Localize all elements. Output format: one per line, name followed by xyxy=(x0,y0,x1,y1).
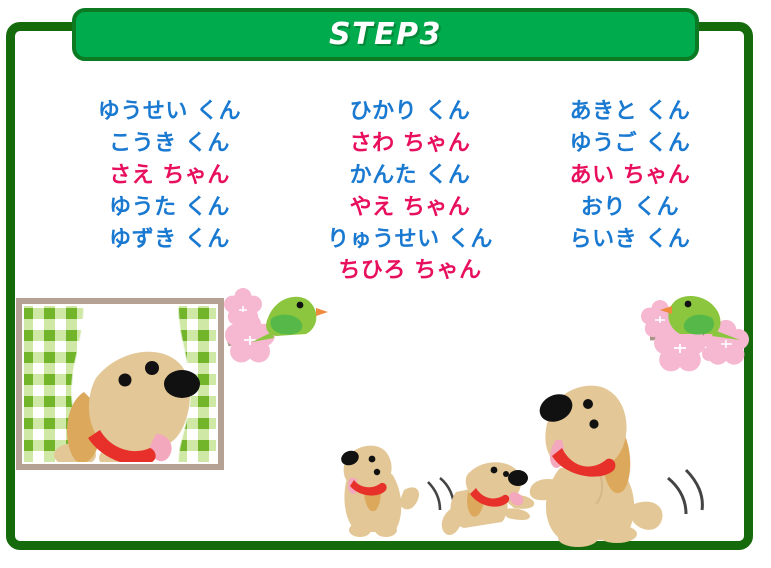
list-item: ゆうた くん xyxy=(62,192,277,224)
name-column-1: ゆうせい くん こうき くん さえ ちゃん ゆうた くん ゆずき くん xyxy=(62,96,277,255)
list-item: ゆずき くん xyxy=(62,224,277,256)
screenshot-root: STEP3 ゆうせい くん こうき くん さえ ちゃん ゆうた くん ゆずき く… xyxy=(0,0,771,568)
list-item: さえ ちゃん xyxy=(62,160,277,192)
list-item: らいき くん xyxy=(530,224,730,256)
list-item: かんた くん xyxy=(300,160,520,192)
list-item: こうき くん xyxy=(62,128,277,160)
name-column-2: ひかり くん さわ ちゃん かんた くん やえ ちゃん りゅうせい くん ちひろ… xyxy=(300,96,520,287)
page-title: STEP3 xyxy=(329,17,442,52)
name-list-area: ゆうせい くん こうき くん さえ ちゃん ゆうた くん ゆずき くん ひかり … xyxy=(0,96,771,316)
list-item: ゆうせい くん xyxy=(62,96,277,128)
name-column-3: あきと くん ゆうご くん あい ちゃん おり くん らいき くん xyxy=(530,96,730,255)
list-item: さわ ちゃん xyxy=(300,128,520,160)
list-item: ゆうご くん xyxy=(530,128,730,160)
list-item: あい ちゃん xyxy=(530,160,730,192)
list-item: おり くん xyxy=(530,192,730,224)
step-banner: STEP3 xyxy=(72,8,699,61)
list-item: やえ ちゃん xyxy=(300,192,520,224)
list-item: あきと くん xyxy=(530,96,730,128)
list-item: ちひろ ちゃん xyxy=(300,255,520,287)
list-item: りゅうせい くん xyxy=(300,224,520,256)
list-item: ひかり くん xyxy=(300,96,520,128)
